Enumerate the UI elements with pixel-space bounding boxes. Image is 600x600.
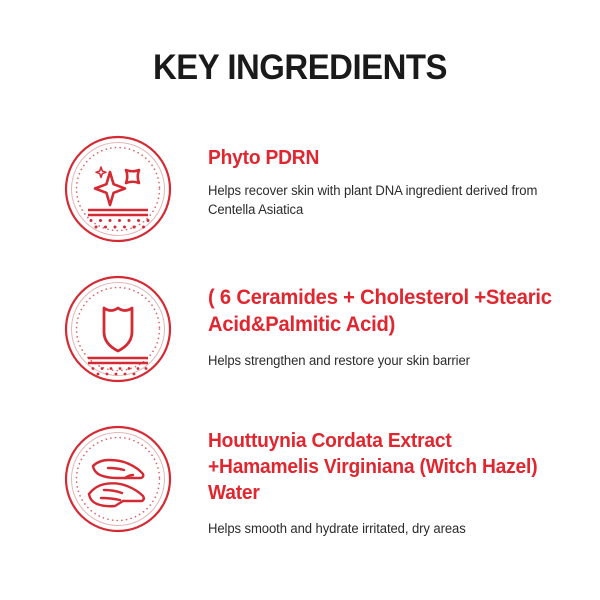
ingredient-title: Phyto PDRN (208, 146, 565, 172)
ingredient-row: Phyto PDRN Helps recover skin with plant… (0, 134, 600, 244)
shield-skin-layers-icon (63, 274, 173, 384)
ingredient-text-block: Phyto PDRN Helps recover skin with plant… (208, 134, 580, 220)
ingredient-description: Helps recover skin with plant DNA ingred… (208, 181, 569, 220)
ingredient-text-block: Houttuynia Cordata Extract +Hamamelis Vi… (208, 424, 580, 539)
ingredient-text-block: ( 6 Ceramides + Cholesterol +Stearic Aci… (208, 274, 580, 370)
caring-hands-icon (63, 424, 173, 534)
ingredient-title: ( 6 Ceramides + Cholesterol +Stearic Aci… (208, 284, 565, 339)
key-ingredients-panel: KEY INGREDIENTS (0, 0, 600, 600)
ingredient-description: Helps smooth and hydrate irritated, dry … (208, 519, 569, 539)
page-title: KEY INGREDIENTS (18, 48, 582, 88)
ingredient-row: ( 6 Ceramides + Cholesterol +Stearic Aci… (0, 274, 600, 384)
ingredient-row: Houttuynia Cordata Extract +Hamamelis Vi… (0, 424, 600, 539)
ingredient-title: Houttuynia Cordata Extract +Hamamelis Vi… (208, 428, 565, 506)
ingredient-description: Helps strengthen and restore your skin b… (208, 351, 569, 371)
sparkle-skin-layers-icon (63, 134, 173, 244)
